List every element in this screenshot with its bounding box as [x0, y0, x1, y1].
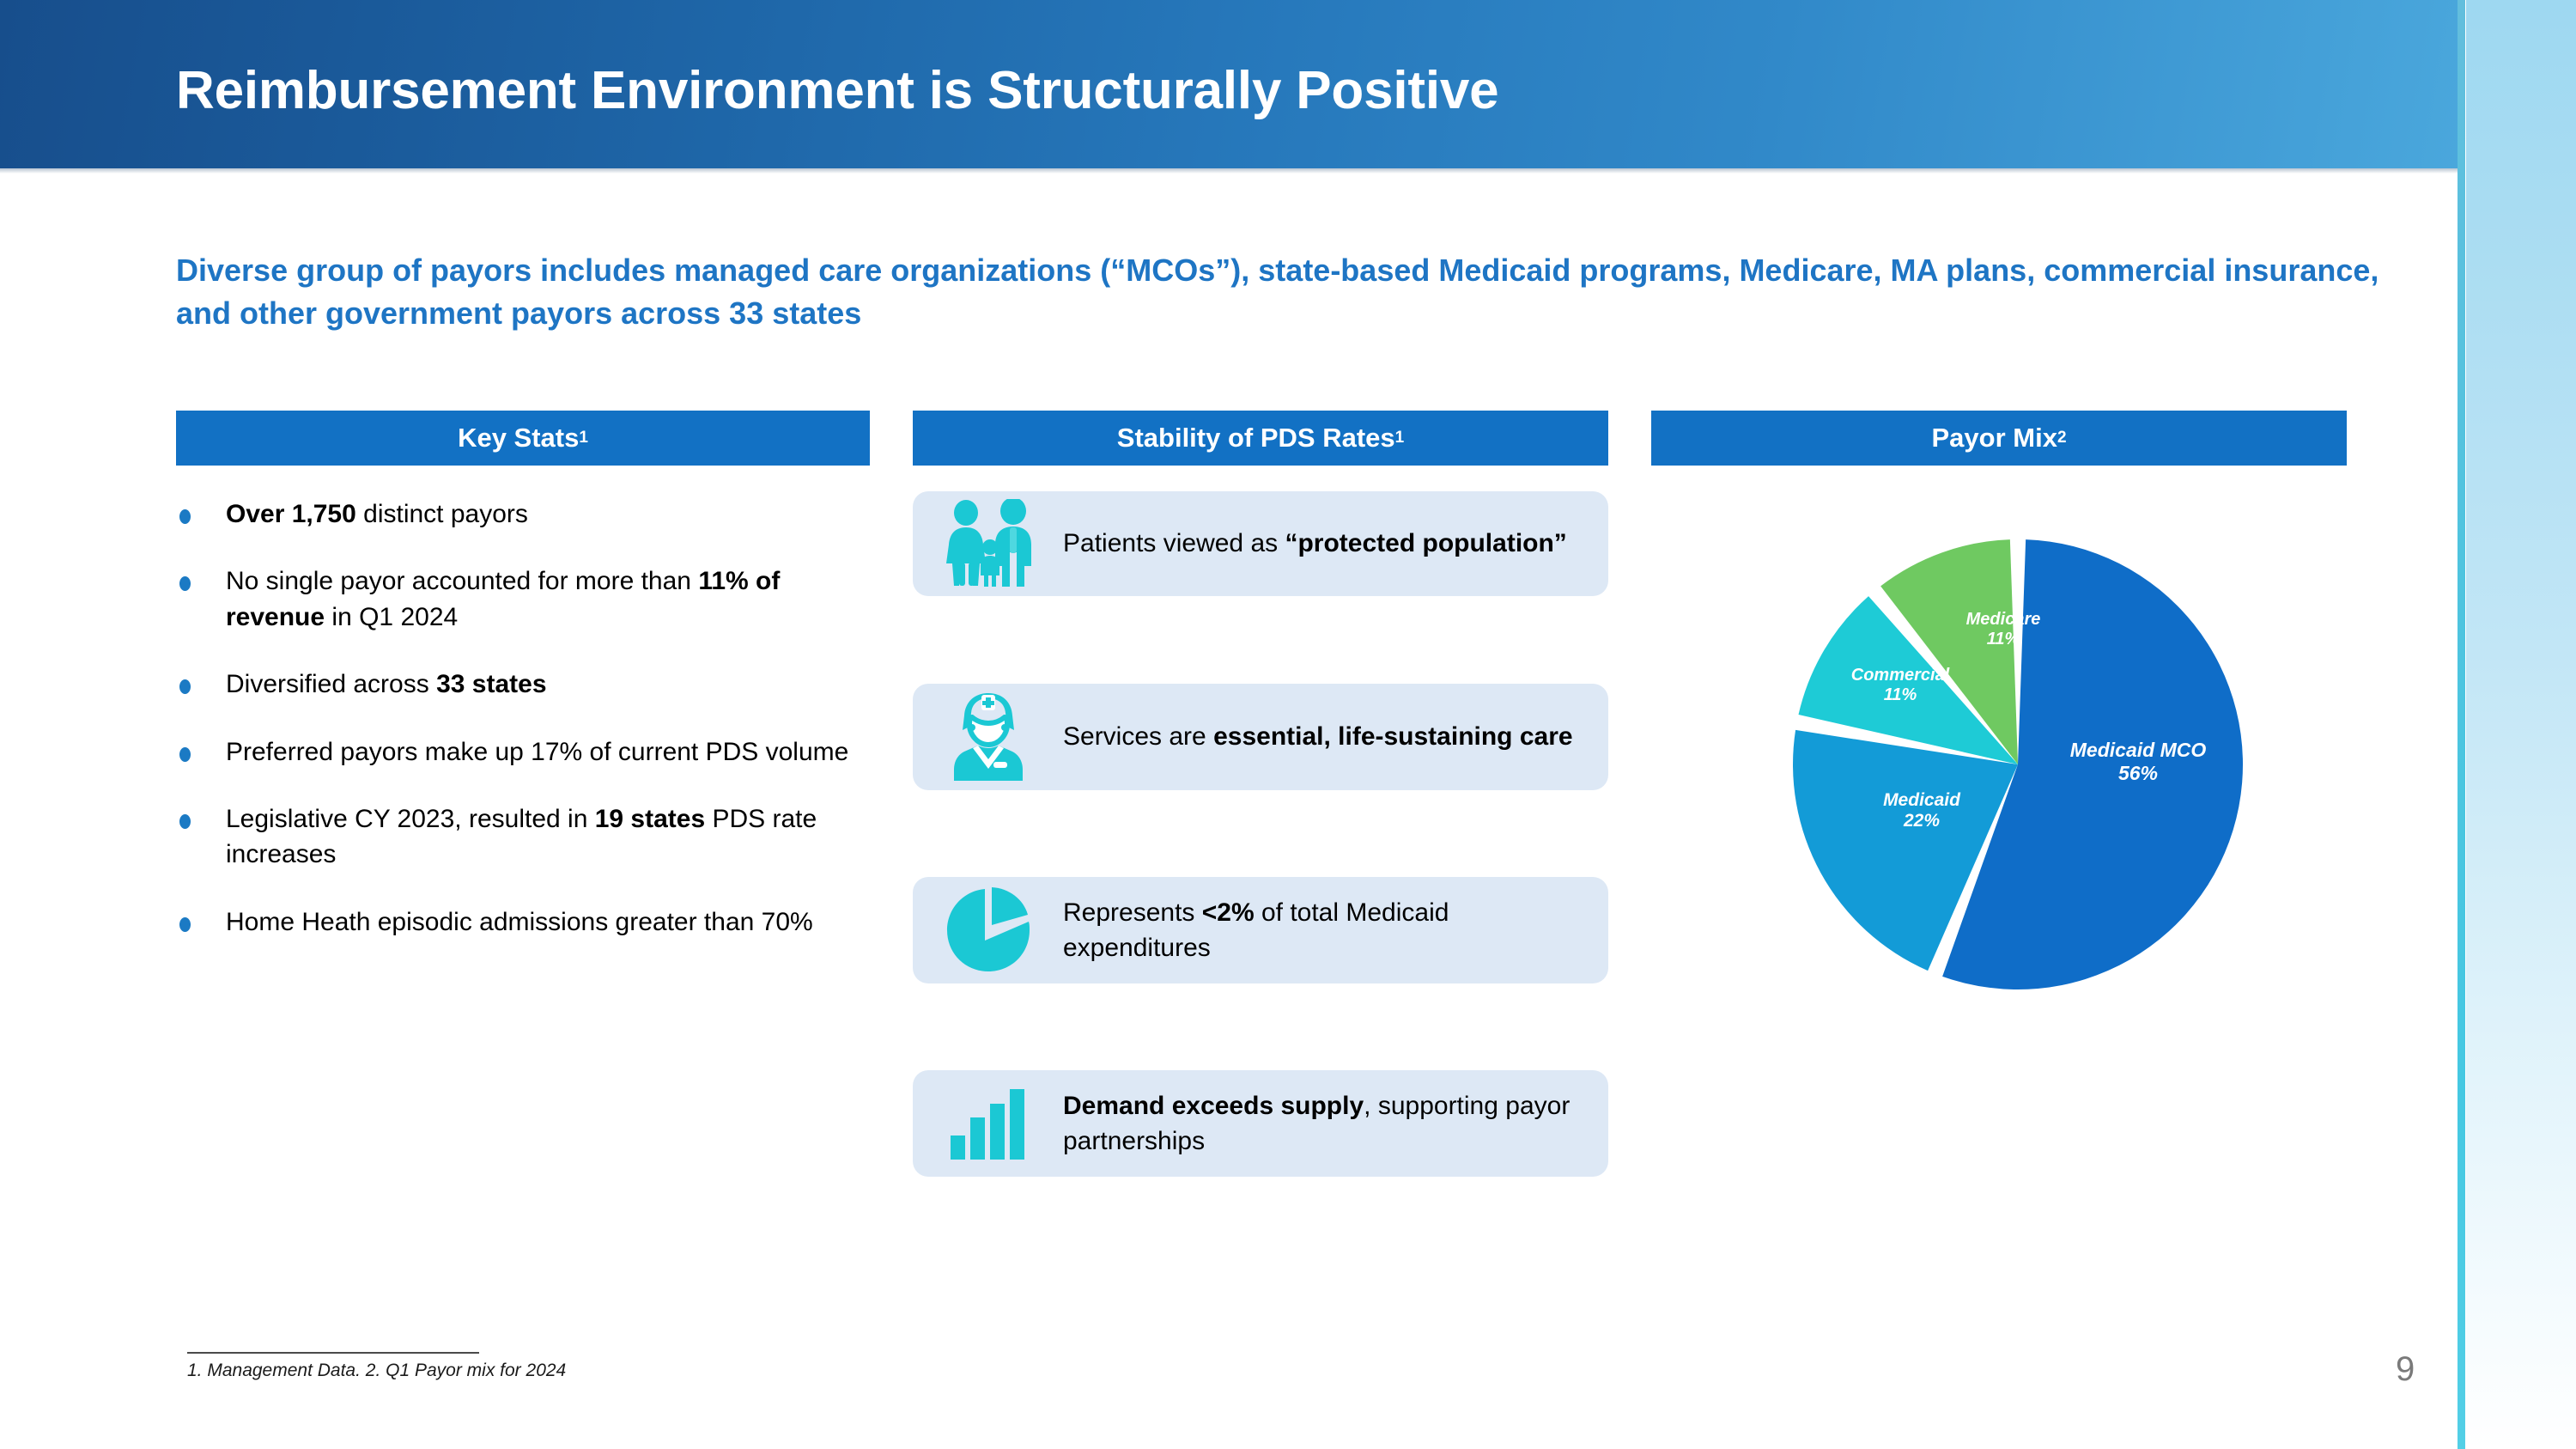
- right-edge-accent-line: [2458, 0, 2465, 1449]
- right-edge-gradient-panel: [2466, 0, 2576, 1449]
- page-number: 9: [2396, 1350, 2415, 1389]
- card-text-bold: <2%: [1202, 898, 1255, 927]
- subtitle: Diverse group of payors includes managed…: [176, 249, 2383, 334]
- stability-card: Demand exceeds supply, supporting payor …: [913, 1070, 1608, 1177]
- key-stats-bullet-item: Legislative CY 2023, resulted in 19 stat…: [176, 801, 872, 873]
- stability-card-text: Demand exceeds supply, supporting payor …: [1063, 1088, 1608, 1160]
- bullet-dot-icon: [176, 801, 226, 873]
- card-text-pre: Services are: [1063, 722, 1213, 751]
- stability-card: Patients viewed as “protected population…: [913, 491, 1608, 596]
- key-stats-header-label: Key Stats: [458, 423, 579, 454]
- family-icon: [913, 499, 1063, 588]
- payor-mix-pie-chart: Medicaid MCO56% Medicaid22% Commercial11…: [1786, 533, 2250, 996]
- column-header-stability: Stability of PDS Rates1: [913, 411, 1608, 466]
- stability-card-text: Patients viewed as “protected population…: [1063, 526, 1586, 561]
- card-text-pre: Represents: [1063, 898, 1202, 927]
- pie-slice-label-commercial: Commercial11%: [1827, 666, 1973, 705]
- key-stats-bullet-text: Legislative CY 2023, resulted in 19 stat…: [226, 801, 857, 873]
- key-stats-bullet-text: Over 1,750 distinct payors: [226, 496, 857, 532]
- title-bar-shadow: [0, 168, 2458, 174]
- key-stats-bullet-text: Diversified across 33 states: [226, 667, 857, 702]
- footnote: 1. Management Data. 2. Q1 Payor mix for …: [187, 1361, 566, 1381]
- pie-slice-label-medicaid-mco: Medicaid MCO56%: [2061, 739, 2215, 784]
- bullet-dot-icon: [176, 667, 226, 702]
- card-text-bold: “protected population”: [1285, 529, 1566, 557]
- key-stats-bullet-item: Diversified across 33 states: [176, 667, 872, 702]
- key-stats-bullet-item: Home Heath episodic admissions greater t…: [176, 904, 872, 940]
- pie-chart-icon: [913, 886, 1063, 975]
- pie-slice-label-medicaid: Medicaid22%: [1853, 790, 1990, 832]
- key-stats-bullet-text: Home Heath episodic admissions greater t…: [226, 904, 857, 940]
- key-stats-bullet-list: Over 1,750 distinct payorsNo single payo…: [176, 496, 872, 971]
- footnote-divider: [187, 1352, 479, 1354]
- payor-mix-header-label: Payor Mix: [1931, 423, 2057, 454]
- column-header-key-stats: Key Stats1: [176, 411, 870, 466]
- stability-card: Represents <2% of total Medicaid expendi…: [913, 877, 1608, 983]
- page-title: Reimbursement Environment is Structurall…: [176, 60, 1498, 121]
- card-text-bold: Demand exceeds supply: [1063, 1092, 1364, 1120]
- pie-slice-label-medicare: Medicare11%: [1930, 610, 2076, 649]
- bar-chart-icon: [913, 1086, 1063, 1161]
- bullet-dot-icon: [176, 904, 226, 940]
- key-stats-bullet-item: Over 1,750 distinct payors: [176, 496, 872, 532]
- bullet-dot-icon: [176, 496, 226, 532]
- key-stats-bullet-text: Preferred payors make up 17% of current …: [226, 734, 857, 770]
- column-header-payor-mix: Payor Mix2: [1651, 411, 2347, 466]
- bullet-dot-icon: [176, 734, 226, 770]
- stability-card-text: Services are essential, life-sustaining …: [1063, 719, 1592, 754]
- stability-header-label: Stability of PDS Rates: [1117, 423, 1395, 454]
- key-stats-bullet-item: No single payor accounted for more than …: [176, 563, 872, 635]
- key-stats-bullet-item: Preferred payors make up 17% of current …: [176, 734, 872, 770]
- nurse-icon: [913, 691, 1063, 782]
- stability-card-text: Represents <2% of total Medicaid expendi…: [1063, 895, 1608, 966]
- card-text-pre: Patients viewed as: [1063, 529, 1285, 557]
- bullet-dot-icon: [176, 563, 226, 635]
- key-stats-bullet-text: No single payor accounted for more than …: [226, 563, 857, 635]
- card-text-bold: essential, life-sustaining care: [1213, 722, 1573, 751]
- stability-card: Services are essential, life-sustaining …: [913, 684, 1608, 790]
